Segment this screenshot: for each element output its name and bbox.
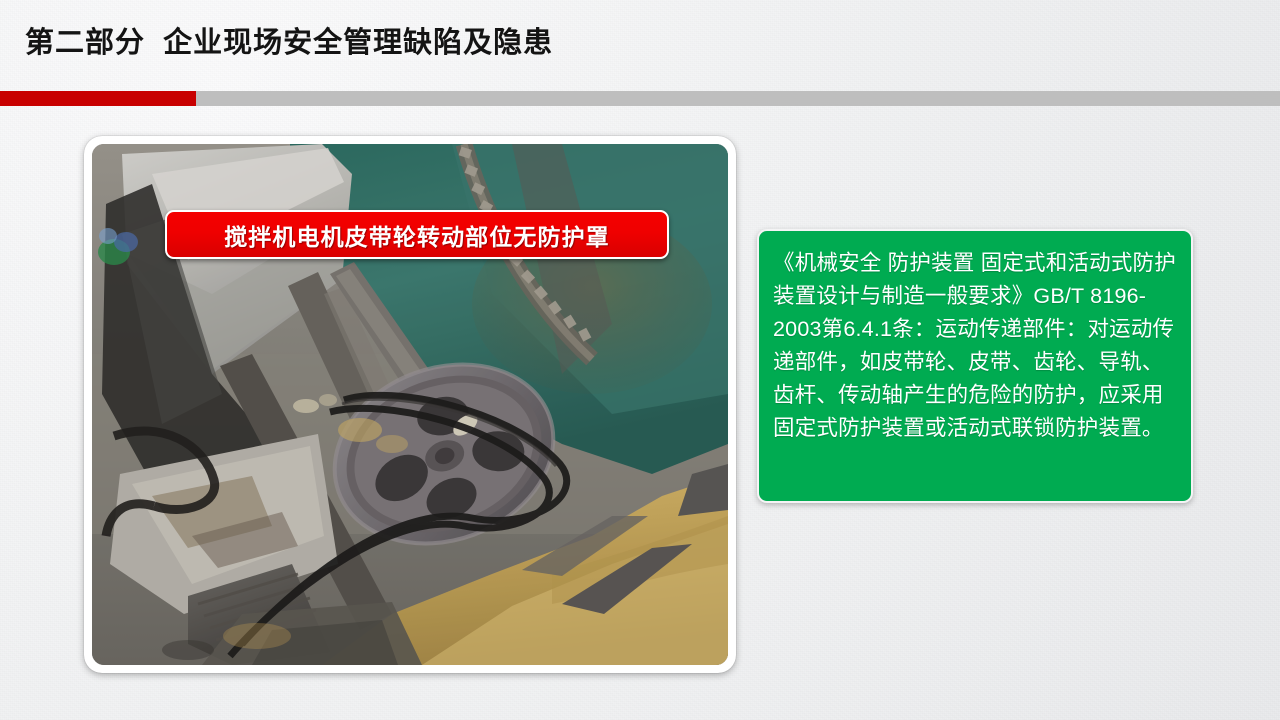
photo-caption-chip: 搅拌机电机皮带轮转动部位无防护罩 [165,210,669,259]
photo-caption-text: 搅拌机电机皮带轮转动部位无防护罩 [224,218,610,252]
slide-canvas: 第二部分 企业现场安全管理缺陷及隐患 [0,0,1280,720]
page-title: 第二部分 企业现场安全管理缺陷及隐患 [25,26,553,61]
standard-reference-text: 《机械安全 防护装置 固定式和活动式防护装置设计与制造一般要求》GB/T 819… [773,247,1177,445]
header-rule-red [0,91,196,106]
standard-reference-box: 《机械安全 防护装置 固定式和活动式防护装置设计与制造一般要求》GB/T 819… [757,229,1193,503]
